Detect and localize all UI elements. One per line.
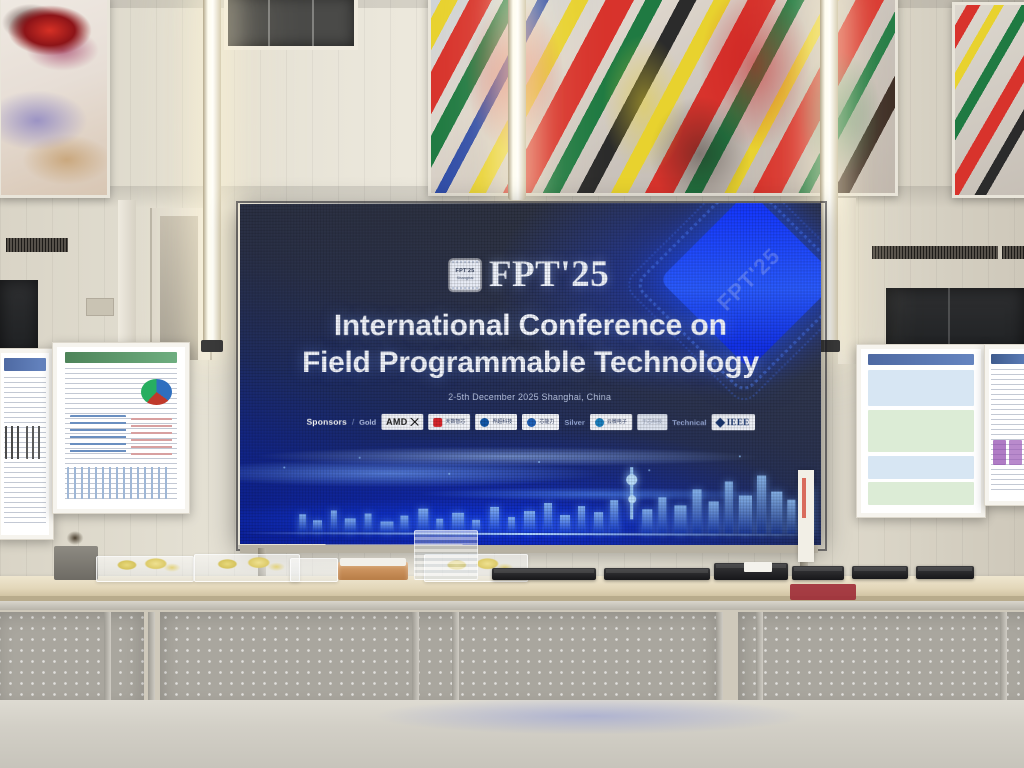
catering-table-rail <box>0 601 1024 610</box>
poster-bar-chart-2 <box>26 426 44 459</box>
wall-plaque <box>86 298 114 316</box>
poster-board-right <box>856 344 986 518</box>
red-bag <box>790 584 856 600</box>
poster <box>989 349 1024 501</box>
bananas-2 <box>198 550 296 578</box>
plant-foliage <box>52 520 98 550</box>
poster-diagram <box>70 415 126 457</box>
poster-title-bar <box>65 352 178 363</box>
tube-light-left-cap <box>201 340 223 352</box>
table-modesty-panel-2 <box>160 612 720 710</box>
poster-bar-chart <box>5 426 22 459</box>
led-screen-frame <box>236 201 827 551</box>
black-tray-1 <box>492 568 596 580</box>
dark-glass-left <box>0 280 38 358</box>
table-leg-6 <box>756 612 763 708</box>
poster-board-left <box>52 342 190 514</box>
table-leg-2 <box>148 612 155 708</box>
vent-right <box>872 246 998 259</box>
door-glass <box>160 216 198 360</box>
table-leg-1 <box>104 612 111 708</box>
table-leg-3 <box>412 612 419 708</box>
floor-screen-reflection <box>330 700 850 740</box>
tube-light-left <box>203 0 221 346</box>
poster-figure-2 <box>1009 440 1023 464</box>
tube-light-center <box>508 0 526 200</box>
poster-section-green-2 <box>868 482 974 505</box>
table-leg-4 <box>452 612 459 708</box>
napkins <box>744 562 772 572</box>
black-tray-4 <box>792 566 844 580</box>
vent-right-2 <box>1002 246 1024 259</box>
conference-hall-scene: FPT'25 <box>0 0 1024 768</box>
table-leg-5 <box>716 612 723 708</box>
bread-basket <box>338 562 408 580</box>
banana-tray-small <box>290 558 338 582</box>
poster <box>861 349 981 513</box>
poster-section-blue <box>868 370 974 406</box>
poster <box>1 353 49 535</box>
poster-table <box>131 418 172 457</box>
black-tray-6 <box>916 566 974 579</box>
painting-left <box>0 0 110 198</box>
black-tray-2 <box>604 568 710 580</box>
table-leg-7 <box>1000 612 1007 708</box>
side-board-strip <box>798 470 814 562</box>
led-screen-stand <box>240 545 818 553</box>
bananas-1 <box>100 552 190 578</box>
painting-right <box>952 2 1024 198</box>
poster-title-bar <box>4 358 46 371</box>
poster-section-green <box>868 410 974 453</box>
poster-board-far-right <box>984 344 1024 506</box>
black-tray-5 <box>852 566 908 579</box>
wall-column-left <box>118 200 136 360</box>
plant-pot <box>54 546 98 580</box>
poster-title-bar <box>868 354 974 365</box>
high-window <box>224 0 358 50</box>
poster-text-lines <box>991 369 1024 492</box>
wall-column-right <box>838 198 856 364</box>
cup-stack <box>414 530 478 580</box>
poster-results-table <box>67 467 172 499</box>
table-modesty-panel-3 <box>738 612 1024 710</box>
poster <box>57 347 185 509</box>
basket-cloth <box>340 558 406 566</box>
poster-section-blue-2 <box>868 456 974 479</box>
table-modesty-panel-1 <box>0 612 144 710</box>
poster-figure <box>993 440 1007 464</box>
poster-board-far-left <box>0 348 54 540</box>
poster-title-bar <box>991 354 1024 365</box>
vent-left <box>6 238 68 252</box>
